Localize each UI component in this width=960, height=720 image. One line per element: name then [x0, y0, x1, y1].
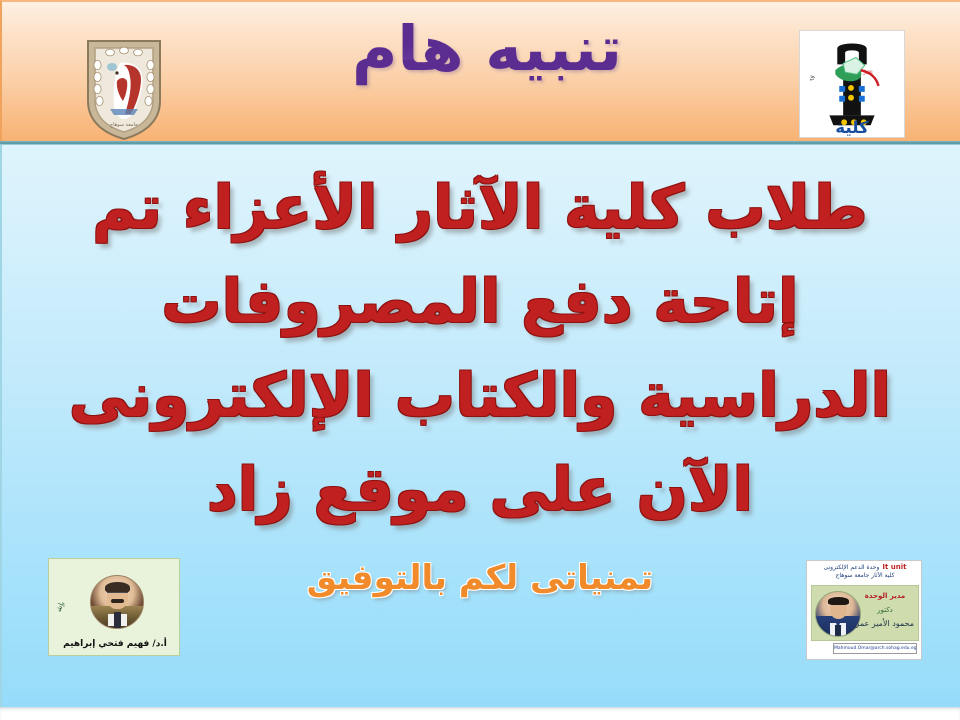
it-card-header: It unitوحدة الدعم الإلكترونى كلية الآثار…	[807, 563, 922, 584]
announcement-slide: جامعة سوهاج تنبيه هام تنبيه هام Faculty …	[0, 0, 960, 720]
it-card-body: مدير الوحدة دكتور محمود الأمير عمر	[811, 585, 919, 641]
dean-name: أ.د/ فهيم فتحي إبراهيم	[49, 639, 180, 649]
it-contact-bar: Mahmoud.Omar@arch.sohag.edu.eg	[833, 643, 917, 654]
svg-text:الآثار: الآثار	[862, 70, 872, 76]
it-unit-card: It unitوحدة الدعم الإلكترونى كلية الآثار…	[806, 560, 922, 660]
it-header-line-2: كلية الآثار جامعة سوهاج	[807, 572, 922, 580]
it-manager-title: دكتور	[856, 606, 914, 614]
faculty-logo-arabic: كلية	[835, 118, 869, 137]
header-banner: جامعة سوهاج تنبيه هام تنبيه هام Faculty …	[0, 0, 960, 143]
headline-line-3: الدراسية والكتاب الإلكترونى	[0, 366, 960, 426]
university-emblem-icon: جامعة سوهاج	[84, 35, 164, 141]
dean-avatar	[90, 575, 144, 629]
it-manager-role: مدير الوحدة	[856, 592, 914, 600]
bottom-strip	[0, 707, 960, 720]
svg-text:بإشراف أ.د/ عميد كلية الآثار ج: بإشراف أ.د/ عميد كلية الآثار جامعة سوهاج	[53, 562, 66, 613]
headline-line-2: إتاحة دفع المصروفات	[0, 272, 960, 332]
slide-title-block: تنبيه هام تنبيه هام	[322, 16, 652, 141]
faculty-logo: Faculty of Archaeology Sohag University	[799, 30, 905, 138]
headline-line-1: طلاب كلية الآثار الأعزاء تم	[0, 178, 960, 238]
slide-title-reflection: تنبيه هام	[322, 33, 652, 67]
it-header-ar-1: وحدة الدعم الإلكترونى	[824, 564, 880, 571]
svg-text:جامعة سوهاج: جامعة سوهاج	[110, 122, 138, 128]
it-manager-name: محمود الأمير عمر	[856, 619, 914, 628]
it-manager-avatar	[815, 591, 861, 637]
dean-card: بإشراف أ.د/ عميد كلية الآثار جامعة سوهاج…	[48, 558, 180, 656]
headline-line-4: الآن على موقع زاد	[0, 460, 960, 520]
